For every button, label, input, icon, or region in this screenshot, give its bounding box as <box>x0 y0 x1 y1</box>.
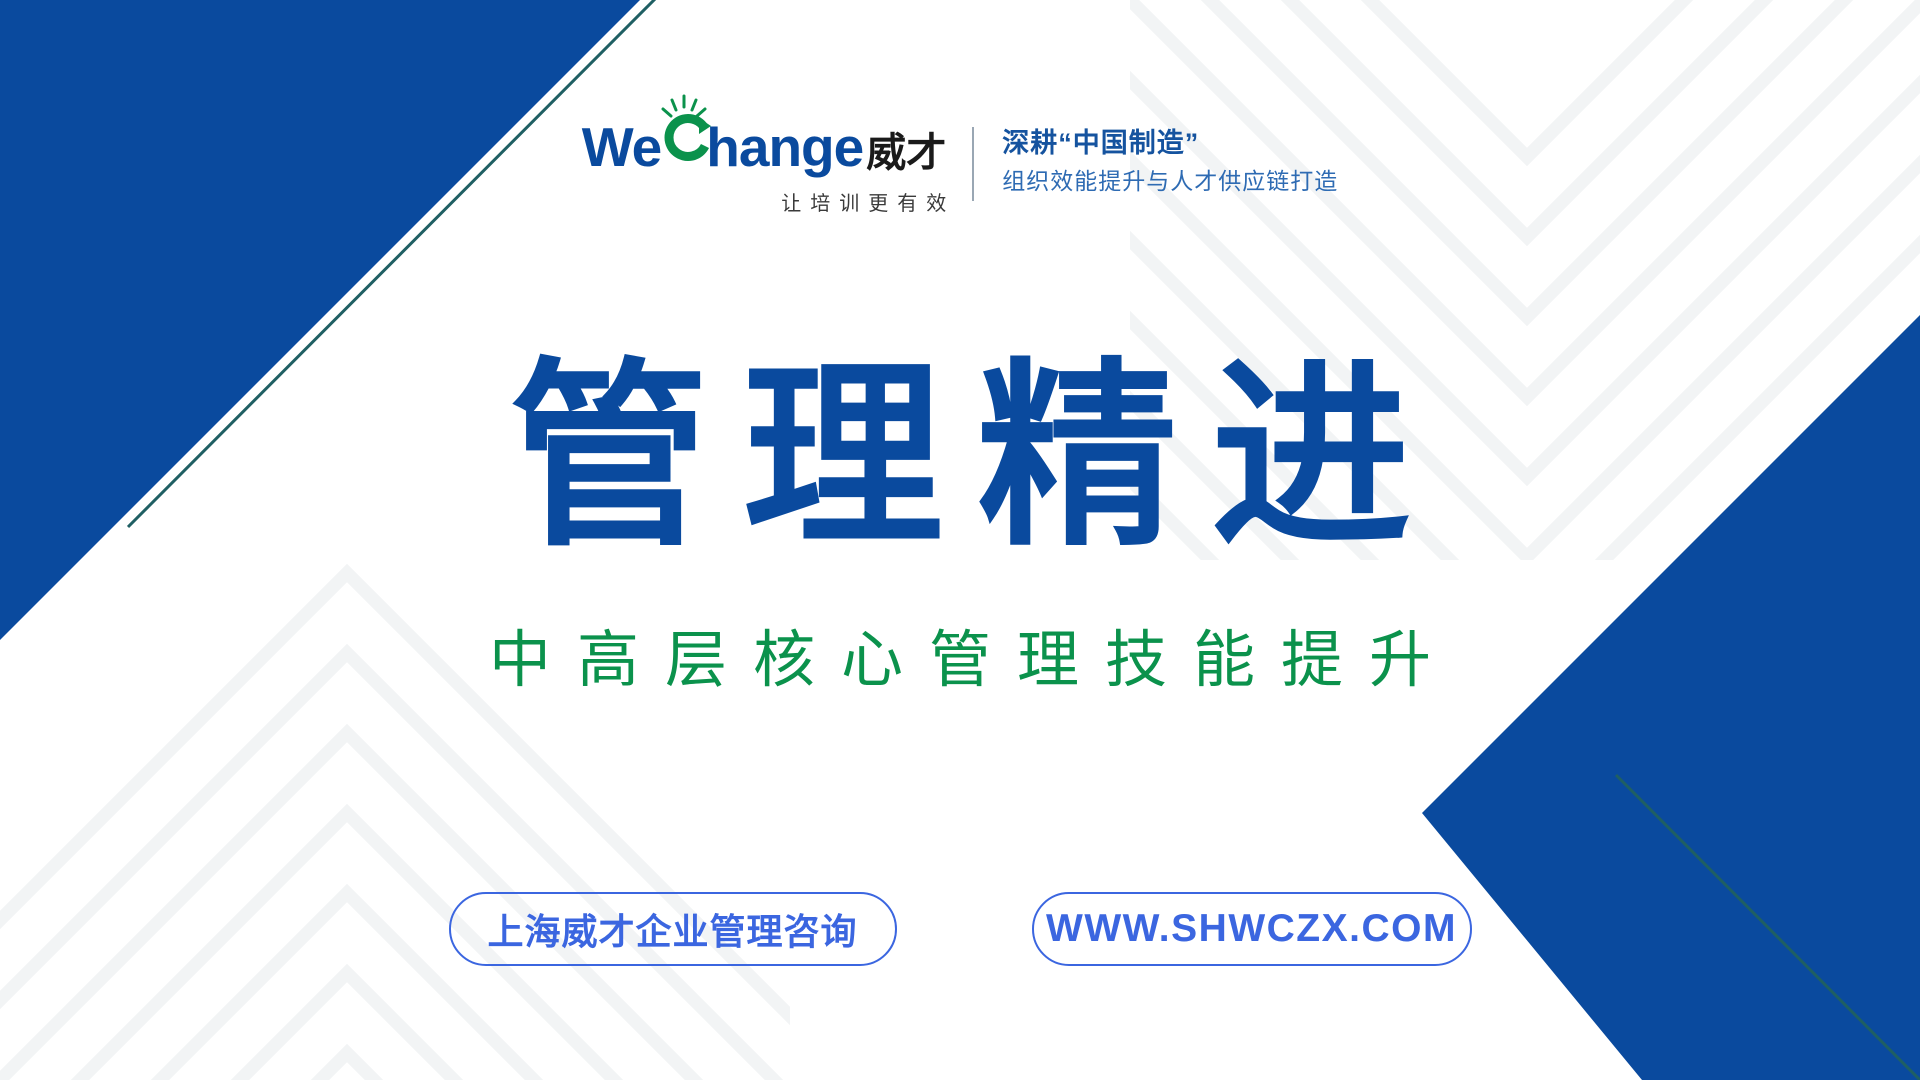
company-name-pill[interactable]: 上海威才企业管理咨询 <box>449 892 897 966</box>
logo-slogan-primary: 深耕“中国制造” <box>1002 127 1338 161</box>
hero-subtitle: 中高层核心管理技能提升 <box>0 630 1920 692</box>
logo-right-group: 深耕“中国制造” 组织效能提升与人才供应链打造 <box>974 127 1338 198</box>
poster-canvas: We <box>0 0 1920 1080</box>
logo-wordmark: We <box>582 108 946 175</box>
footer-pill-row: 上海威才企业管理咨询 WWW.SHWCZX.COM <box>0 892 1920 966</box>
logo-text-we: We <box>582 120 662 175</box>
logo-tagline: 让培训更有效 <box>781 187 955 216</box>
hero-title: 管理精进 <box>0 358 1920 558</box>
website-url-pill[interactable]: WWW.SHWCZX.COM <box>1032 892 1472 966</box>
logo-block: We <box>582 108 1338 216</box>
logo-bar: We <box>0 108 1920 216</box>
logo-text-cn: 威才 <box>866 133 946 173</box>
logo-left-group: We <box>582 108 972 216</box>
logo-text-hange: hange <box>706 120 863 175</box>
logo-c-sparkle-icon <box>661 108 706 166</box>
logo-slogan-secondary: 组织效能提升与人才供应链打造 <box>1002 167 1338 197</box>
